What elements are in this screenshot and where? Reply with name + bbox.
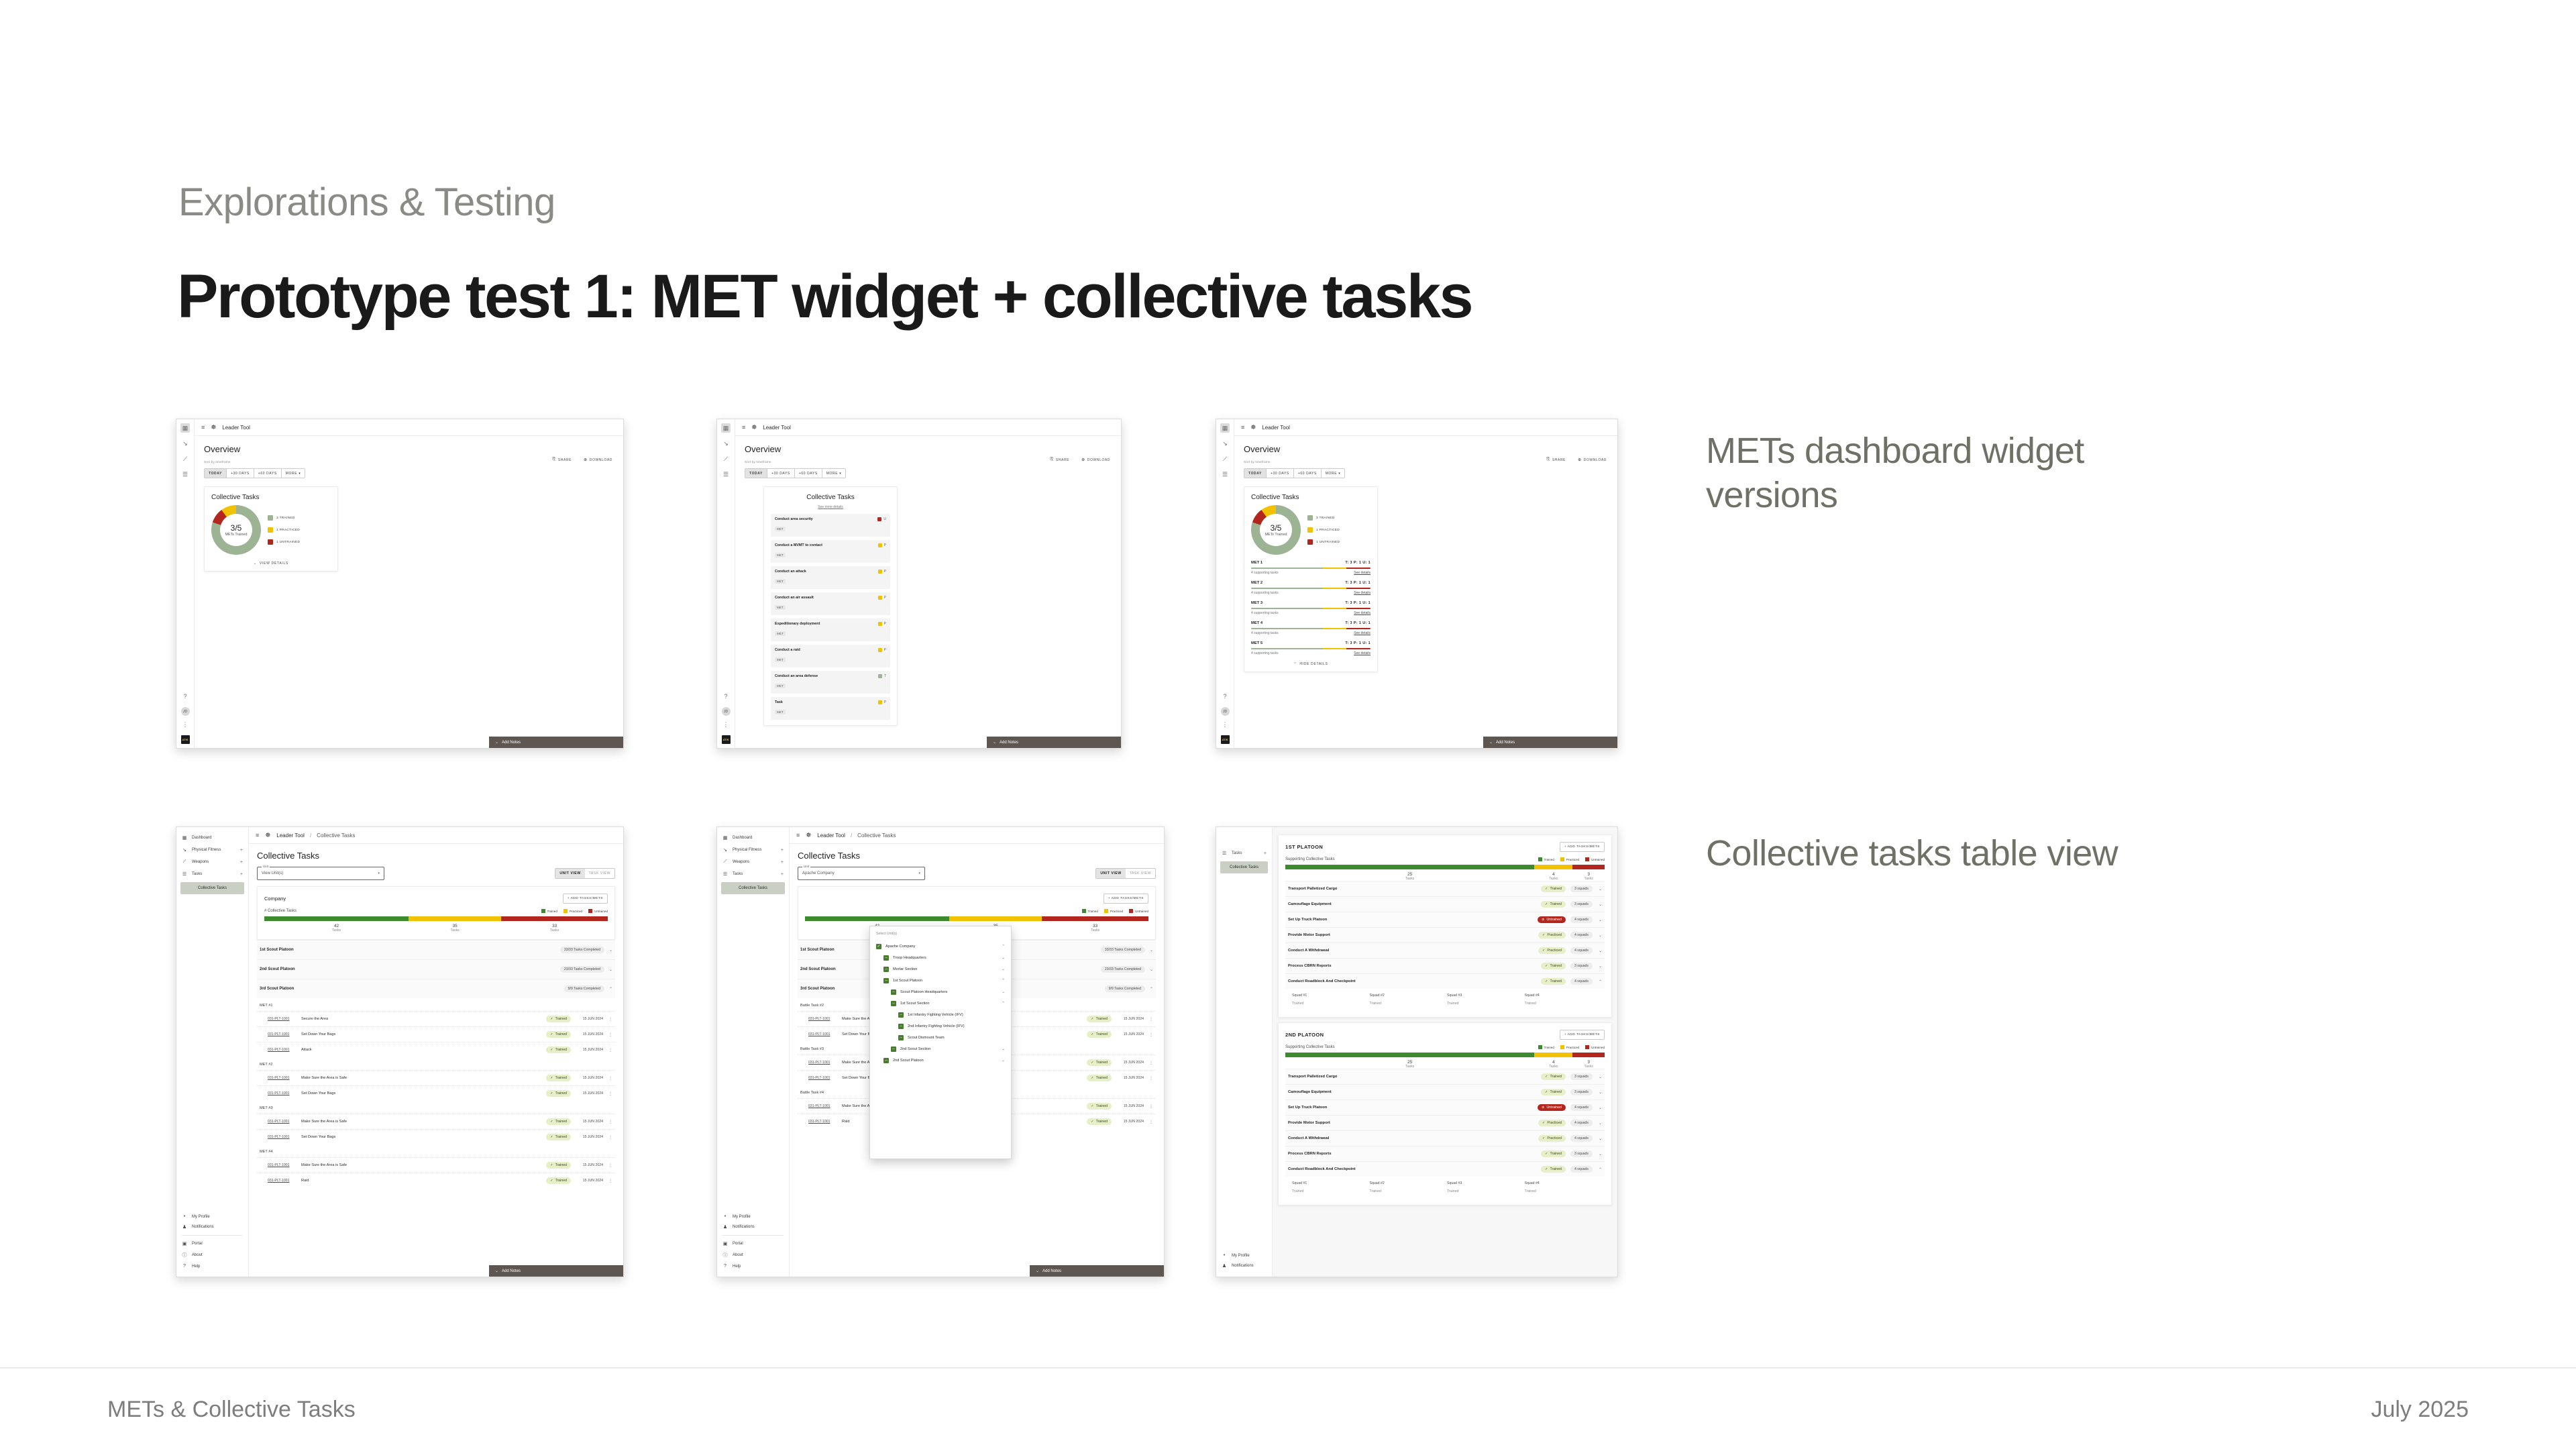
list-item[interactable]: TaskMETP (771, 697, 890, 720)
task-row[interactable]: Conduct A Withdrawal✓Practiced4 squads⌄ (1285, 1130, 1605, 1146)
share-button[interactable]: ⎘SHARE (552, 458, 572, 462)
checkbox-partial[interactable]: – (883, 1058, 889, 1063)
list-item-text: Conduct area securityMET (775, 517, 813, 533)
view-toggle[interactable]: UNIT VIEW TASK VIEW (555, 868, 615, 879)
table-row[interactable]: 031-PLT-1001Make Sure the Area is Safe✓T… (257, 1070, 615, 1085)
tab-unit-view[interactable]: UNIT VIEW (555, 869, 584, 878)
avatar[interactable]: JD (181, 707, 190, 716)
chevron-down-icon[interactable]: ⌄ (1002, 1059, 1005, 1063)
more-vertical-icon[interactable]: ⋮ (1144, 1017, 1153, 1022)
squad-count-badge: 4 squads (1570, 1120, 1593, 1126)
chevron-down-icon[interactable]: ⌄ (1593, 933, 1602, 938)
more-vertical-icon[interactable]: ⋮ (1144, 1032, 1153, 1037)
task-code[interactable]: 031-PLT-1001 (268, 1048, 301, 1052)
running-icon[interactable]: ↘ (721, 439, 731, 448)
chevron-down-icon[interactable]: ⌄ (1593, 918, 1602, 922)
unit-dropdown-menu[interactable]: Select Unit(s) ✓Apache Company⌃–Troop He… (869, 926, 1012, 1159)
add-tasks-mets-button[interactable]: + ADD TASKS/METS (1104, 894, 1148, 904)
squad-header: Squad #4 (1525, 994, 1603, 998)
platoon-name: 3rd Scout Platoon (800, 987, 835, 991)
task-row[interactable]: Transport Palletized Cargo✓Trained3 squa… (1285, 881, 1605, 896)
bar-segment (1572, 865, 1605, 869)
sidebar-item-collective-tasks[interactable]: Collective Tasks (721, 882, 785, 894)
question-icon[interactable]: ? (180, 692, 190, 701)
plus-icon[interactable]: + (240, 872, 243, 877)
task-row[interactable]: Transport Palletized Cargo✓Trained3 squa… (1285, 1069, 1605, 1084)
question-icon[interactable]: ? (1220, 692, 1230, 701)
sidebar-item-portal[interactable]: ▣Portal (717, 1238, 789, 1249)
more-vertical-icon[interactable]: ⋮ (1144, 1076, 1153, 1081)
question-icon[interactable]: ? (721, 692, 731, 701)
bar-segment-untrained (1346, 608, 1371, 610)
chevron-up-icon[interactable]: ⌃ (1002, 945, 1005, 949)
task-code[interactable]: 031-PLT-1001 (808, 1104, 842, 1108)
more-vertical-icon[interactable]: ⋮ (180, 720, 190, 729)
unit-dropdown-item[interactable]: –2nd Infantry Fighting Vehicle (IFV) (876, 1020, 1005, 1032)
task-code[interactable]: 031-PLT-1001 (808, 1061, 842, 1065)
task-code[interactable]: 031-PLT-1001 (808, 1076, 842, 1080)
sidebar-item-tasks[interactable]: ☰Tasks+ (717, 868, 789, 880)
sidebar-item-tasks[interactable]: ☰Tasks+ (1216, 847, 1272, 859)
sidebar-item-label: My Profile (192, 1215, 210, 1219)
sidebar-item-my-profile[interactable]: •My Profile (176, 1212, 248, 1222)
chevron-down-icon[interactable]: ⌄ (1593, 964, 1602, 969)
download-button[interactable]: ⊕DOWNLOAD (584, 458, 612, 462)
sidebar-item-label: Help (192, 1265, 200, 1269)
checkbox-partial[interactable]: – (891, 1001, 896, 1006)
checkbox-partial[interactable]: – (883, 955, 889, 961)
more-vertical-icon[interactable]: ⋮ (1144, 1104, 1153, 1109)
chevron-down-icon[interactable]: ⌄ (1002, 990, 1005, 994)
chevron-down-icon[interactable]: ⌄ (609, 967, 612, 972)
list-item[interactable]: Conduct an attackMETP (771, 566, 890, 589)
checkbox-partial[interactable]: – (883, 978, 889, 983)
sidebar-item-help[interactable]: ?Help (717, 1261, 789, 1271)
platoon-row[interactable]: 3rd Scout Platoon9/9 Tasks Completed⌃ (257, 979, 615, 998)
chevron-up-icon[interactable]: ⌃ (1002, 979, 1005, 983)
bar-segment (1534, 1053, 1572, 1057)
met-progress-row[interactable]: MET 2T: 3 P: 1 U: 14 supporting tasksSee… (1251, 581, 1371, 595)
add-notes-bar[interactable]: ⌄ Add Notes (987, 737, 1121, 748)
table-row[interactable]: 031-PLT-1001Set Down Your Bags✓Trained15… (257, 1026, 615, 1042)
platoon-row[interactable]: 1st Scout Platoon33/33 Tasks Completed⌄ (257, 940, 615, 959)
checkbox-partial[interactable]: – (891, 1046, 896, 1052)
task-code[interactable]: 031-PLT-1001 (268, 1163, 301, 1167)
more-vertical-icon[interactable]: ⋮ (603, 1135, 612, 1140)
running-icon[interactable]: ↘ (1220, 439, 1230, 448)
chevron-down-icon[interactable]: ⌄ (1593, 1075, 1602, 1079)
dashboard-icon[interactable]: ▦ (1220, 423, 1230, 433)
met-progress-footer: 4 supporting tasksSee details (1251, 571, 1371, 575)
unit-dropdown-item[interactable]: –Scout Dismount Team (876, 1032, 1005, 1043)
plus-icon[interactable]: + (240, 860, 243, 865)
checkbox-partial[interactable]: – (898, 1012, 904, 1018)
add-notes-label: Add Notes (502, 741, 521, 745)
table-row[interactable]: 031-PLT-1001Attack✓Trained15 JUN 2024⋮ (257, 1042, 615, 1057)
info-icon: ⓘ (182, 1252, 187, 1258)
met-progress-row[interactable]: MET 3T: 3 P: 1 U: 14 supporting tasksSee… (1251, 601, 1371, 615)
donut-chart: 3/5 METs Trained (211, 505, 261, 555)
sidebar-item-notifications[interactable]: ♟Notifications (176, 1222, 248, 1232)
task-code[interactable]: 031-PLT-1001 (808, 1120, 842, 1124)
slide: Explorations & Testing Prototype test 1:… (0, 0, 2576, 1449)
slide-title: Prototype test 1: MET widget + collectiv… (177, 262, 1472, 332)
list-item[interactable]: Conduct area securityMETU (771, 514, 890, 537)
list-icon[interactable]: ☰ (180, 470, 190, 479)
unit-select[interactable]: Unit Apache Company ▾ (798, 867, 925, 880)
task-code[interactable]: 031-PLT-1001 (808, 1032, 842, 1036)
legend-label: Practiced (1566, 858, 1579, 861)
more-vertical-icon[interactable]: ⋮ (603, 1048, 612, 1053)
task-row[interactable]: Set Up Truck Platoon⊘Untrained4 squads⌄ (1285, 1099, 1605, 1115)
legend-label: Trained (1544, 1046, 1554, 1049)
platoon-bar-values: 25Tasks4Tasks3Tasks (1285, 872, 1605, 881)
more-vertical-icon[interactable]: ⋮ (1220, 720, 1230, 729)
tab-more[interactable]: MORE ▾ (1322, 469, 1345, 478)
sidebar-item-dashboard[interactable]: ▦Dashboard (176, 832, 248, 844)
sidebar-item-dashboard[interactable]: ▦Dashboard (717, 832, 789, 844)
more-vertical-icon[interactable]: ⋮ (1144, 1061, 1153, 1065)
list-item[interactable]: Conduct an area defenseMETT (771, 671, 890, 694)
sidebar-item-notifications[interactable]: ♟Notifications (1216, 1260, 1272, 1271)
task-code[interactable]: 031-PLT-1001 (268, 1091, 301, 1095)
sidebar-item-label: My Profile (733, 1215, 751, 1219)
status-swatch (878, 543, 882, 547)
view-toggle[interactable]: UNIT VIEW TASK VIEW (1095, 868, 1156, 879)
unit-select[interactable]: Unit View Unit(s) ▾ (257, 867, 384, 880)
task-row[interactable]: Conduct Roadblock And Checkpoint✓Trained… (1285, 1161, 1605, 1177)
chevron-down-icon[interactable]: ⌄ (1593, 887, 1602, 892)
blocked-icon: ⊘ (1542, 1106, 1544, 1110)
atis-icon[interactable]: ATIS (722, 735, 731, 744)
met-counts: T: 3 P: 1 U: 1 (1345, 581, 1371, 585)
bar-segment-untrained (1346, 648, 1371, 650)
more-vertical-icon[interactable]: ⋮ (603, 1120, 612, 1124)
bar-value-group: 4Tasks (1534, 1060, 1572, 1069)
task-code[interactable]: 031-PLT-1001 (808, 1017, 842, 1021)
more-vertical-icon[interactable]: ⋮ (603, 1091, 612, 1096)
sidebar-divider (722, 1235, 784, 1236)
dashboard-icon[interactable]: ▦ (721, 423, 731, 433)
plus-icon[interactable]: + (240, 848, 243, 853)
timeframe-segmented-control[interactable]: TODAY +30 DAYS +60 DAYS MORE ▾ (1244, 468, 1345, 478)
unit-dropdown-item[interactable]: –Mortar Section⌄ (876, 963, 1005, 975)
download-button[interactable]: ⊕DOWNLOAD (1081, 458, 1110, 462)
met-progress-row[interactable]: MET 5T: 3 P: 1 U: 14 supporting tasksSee… (1251, 641, 1371, 655)
add-tasks-mets-button[interactable]: + ADD TASKS/METS (1560, 842, 1605, 852)
tab-60-days[interactable]: +60 DAYS (254, 469, 282, 478)
status-letter: P (884, 700, 886, 704)
breadcrumb: Collective Tasks (857, 833, 896, 839)
panel-header: 1ST PLATOON+ ADD TASKS/METS (1285, 842, 1605, 852)
list-icon[interactable]: ☰ (721, 470, 731, 479)
footer-left-label: METs & Collective Tasks (107, 1397, 356, 1423)
sidebar-item-physical-fitness[interactable]: ↘Physical Fitness+ (717, 844, 789, 856)
table-row[interactable]: 031-PLT-1001Raid✓Trained15 JUN 2024⋮ (257, 1173, 615, 1188)
task-name: Set Down Your Bags (301, 1091, 546, 1095)
sidebar-item-help[interactable]: ?Help (176, 1261, 248, 1271)
platoon-row[interactable]: 2nd Scout Platoon23/33 Tasks Completed⌄ (257, 959, 615, 979)
thumbnail-mets-donut[interactable]: ▦ ↘ ⟋ ☰ ? JD ⋮ ATIS ≡ ✵ Leader Tool O (176, 419, 624, 749)
task-code[interactable]: 031-PLT-1001 (268, 1179, 301, 1183)
download-button[interactable]: ⊕DOWNLOAD (1578, 458, 1607, 462)
sidebar-item-weapons[interactable]: ⟋Weapons+ (176, 856, 248, 868)
see-details-link[interactable]: See details (1354, 651, 1371, 655)
add-tasks-mets-button[interactable]: + ADD TASKS/METS (563, 894, 608, 904)
rifle-icon[interactable]: ⟋ (180, 454, 190, 464)
see-details-link[interactable]: See details (1354, 611, 1371, 615)
sidebar-item-my-profile[interactable]: •My Profile (717, 1212, 789, 1222)
rifle-icon[interactable]: ⟋ (1220, 454, 1230, 464)
task-row[interactable]: Conduct Roadblock And Checkpoint✓Trained… (1285, 973, 1605, 989)
view-details-button[interactable]: ⌄ VIEW DETAILS (211, 561, 331, 566)
met-progress-row[interactable]: MET 1T: 3 P: 1 U: 14 supporting tasksSee… (1251, 561, 1371, 575)
chevron-down-icon[interactable]: ⌄ (1593, 1121, 1602, 1126)
plus-icon[interactable]: + (781, 848, 784, 853)
table-row[interactable]: 031-PLT-1001Set Down Your Bags✓Trained15… (257, 1129, 615, 1144)
sidebar-divider (182, 1235, 243, 1236)
task-code[interactable]: 031-PLT-1001 (268, 1032, 301, 1036)
timeframe-segmented-control[interactable]: TODAY +30 DAYS +60 DAYS MORE ▾ (745, 468, 846, 478)
unit-dropdown-item[interactable]: –2nd Scout Platoon⌄ (876, 1055, 1005, 1066)
met-progress-row[interactable]: MET 4T: 3 P: 1 U: 14 supporting tasksSee… (1251, 621, 1371, 635)
task-row[interactable]: Provide Motor Support✓Practiced4 squads⌄ (1285, 927, 1605, 943)
dashboard-icon[interactable]: ▦ (180, 423, 190, 433)
sidebar-item-about[interactable]: ⓘAbout (176, 1249, 248, 1261)
hide-details-label: HIDE DETAILS (1299, 662, 1328, 666)
hamburger-icon[interactable]: ≡ (742, 424, 745, 431)
download-icon: ⊕ (584, 458, 588, 462)
task-row[interactable]: Camouflage Equipment✓Trained3 squads⌄ (1285, 896, 1605, 912)
list-item[interactable]: Expeditionary deploymentMETP (771, 619, 890, 641)
tab-30-days[interactable]: +30 DAYS (227, 469, 254, 478)
task-status: P (878, 700, 886, 704)
tab-today[interactable]: TODAY (205, 469, 227, 478)
sidebar-item-about[interactable]: ⓘAbout (717, 1249, 789, 1261)
group-heading: MET #2 (257, 1057, 615, 1070)
check-icon: ✓ (550, 1135, 553, 1139)
task-row[interactable]: Conduct A Withdrawal✓Practiced4 squads⌄ (1285, 943, 1605, 958)
tab-task-view[interactable]: TASK VIEW (1126, 869, 1155, 878)
hamburger-icon[interactable]: ≡ (256, 832, 259, 839)
plus-icon[interactable]: + (1264, 851, 1267, 856)
legend-label-untrained: Untrained (1135, 910, 1148, 913)
list-item[interactable]: Conduct an air assaultMETP (771, 592, 890, 615)
more-vertical-icon[interactable]: ⋮ (603, 1076, 612, 1081)
task-code[interactable]: 031-PLT-1001 (268, 1076, 301, 1080)
tab-60-days[interactable]: +60 DAYS (795, 469, 822, 478)
plus-icon[interactable]: + (781, 860, 784, 865)
see-details-link[interactable]: See details (1354, 631, 1371, 635)
see-details-link[interactable]: See details (1354, 571, 1371, 575)
status-badge: ✓Trained (1087, 1031, 1112, 1038)
status-label: Trained (555, 1048, 567, 1052)
chevron-down-icon[interactable]: ⌄ (1150, 967, 1153, 972)
sidebar-item-collective-tasks[interactable]: Collective Tasks (180, 882, 244, 894)
see-details-link[interactable]: See details (1354, 591, 1371, 595)
tab-more[interactable]: MORE ▾ (282, 469, 305, 478)
met-name: MET 2 (1251, 581, 1263, 585)
bar-unit: Tasks (501, 928, 608, 932)
task-row[interactable]: Process CBRN Reports✓Trained3 squads⌄ (1285, 958, 1605, 973)
hamburger-icon[interactable]: ≡ (796, 832, 800, 839)
breadcrumb: Collective Tasks (317, 833, 355, 839)
thumbnail-mets-list[interactable]: ▦ ↘ ⟋ ☰ ? JD ⋮ ATIS ≡ ✵ Leader Tool O (716, 419, 1122, 749)
chevron-down-icon[interactable]: ⌄ (1593, 949, 1602, 953)
table-row[interactable]: 031-PLT-1001Secure the Area✓Trained15 JU… (257, 1011, 615, 1026)
list-icon[interactable]: ☰ (1220, 470, 1230, 479)
squad-count-badge: 4 squads (1570, 947, 1593, 954)
sidebar-item-notifications[interactable]: ♟Notifications (717, 1222, 789, 1232)
sidebar-item-portal[interactable]: ▣Portal (176, 1238, 248, 1249)
status-badge: ✓Trained (546, 1090, 571, 1097)
bell-icon: ♟ (722, 1224, 728, 1230)
task-code[interactable]: 031-PLT-1001 (268, 1120, 301, 1124)
chevron-down-icon[interactable]: ⌄ (1593, 902, 1602, 907)
check-icon: ✓ (550, 1120, 553, 1124)
add-notes-bar[interactable]: ⌄ Add Notes (489, 737, 623, 748)
list-item[interactable]: Conduct a raidMETP (771, 645, 890, 667)
chevron-down-icon[interactable]: ⌄ (1002, 1047, 1005, 1051)
sidebar-item-my-profile[interactable]: •My Profile (1216, 1250, 1272, 1260)
hamburger-icon[interactable]: ≡ (1241, 424, 1244, 431)
checkbox-partial[interactable]: – (883, 967, 889, 972)
sidebar-item-collective-tasks[interactable]: Collective Tasks (1220, 861, 1268, 873)
task-date: 15 JUN 2024 (1112, 1104, 1144, 1108)
more-vertical-icon[interactable]: ⋮ (603, 1179, 612, 1183)
sidebar-item-weapons[interactable]: ⟋Weapons+ (717, 856, 789, 868)
task-code[interactable]: 031-PLT-1001 (268, 1135, 301, 1139)
chevron-down-icon[interactable]: ⌄ (1593, 1106, 1602, 1110)
task-row[interactable]: Set Up Truck Platoon⊘Untrained4 squads⌄ (1285, 912, 1605, 927)
unit-dropdown-item[interactable]: ✓Apache Company⌃ (876, 941, 1005, 952)
status-label: Trained (1096, 1017, 1108, 1021)
tab-today[interactable]: TODAY (1244, 469, 1267, 478)
chevron-down-icon[interactable]: ⌄ (1593, 1152, 1602, 1157)
legend-swatch-untrained (588, 909, 592, 913)
tab-30-days[interactable]: +30 DAYS (767, 469, 795, 478)
sidebar-item-tasks[interactable]: ☰Tasks+ (176, 868, 248, 880)
task-date: 15 JUN 2024 (571, 1032, 603, 1036)
chevron-up-icon[interactable]: ⌃ (1002, 1002, 1005, 1006)
platoon-name: 2nd Scout Platoon (260, 967, 295, 971)
atis-icon[interactable]: ATIS (181, 735, 190, 744)
tab-today[interactable]: TODAY (745, 469, 767, 478)
checkbox-partial[interactable]: – (898, 1035, 904, 1040)
breadcrumb-separator: / (310, 833, 311, 839)
avatar[interactable]: JD (1221, 707, 1230, 716)
topbar: ≡ ✵ Leader Tool (195, 419, 623, 436)
tab-more[interactable]: MORE ▾ (822, 469, 846, 478)
list-item[interactable]: Conduct a MVMT to contactMETP (771, 540, 890, 563)
rifle-icon[interactable]: ⟋ (721, 454, 731, 464)
checkbox-partial[interactable]: – (891, 989, 896, 995)
check-icon: ✓ (1091, 1017, 1093, 1021)
task-row[interactable]: Camouflage Equipment✓Trained3 squads⌄ (1285, 1084, 1605, 1099)
chevron-up-icon[interactable]: ⌃ (609, 987, 612, 991)
tab-60-days[interactable]: +60 DAYS (1294, 469, 1322, 478)
unit-dropdown-placeholder: Select Unit(s) (876, 932, 1005, 936)
task-row[interactable]: Provide Motor Support✓Practiced4 squads⌄ (1285, 1115, 1605, 1130)
unit-dropdown-item[interactable]: –2nd Scout Section⌄ (876, 1043, 1005, 1055)
hide-details-button[interactable]: ⌃ HIDE DETAILS (1251, 662, 1371, 666)
task-name: Process CBRN Reports (1288, 1152, 1541, 1156)
thumbnail-collective-tasks-table[interactable]: ▦Dashboard↘Physical Fitness+⟋Weapons+☰Ta… (176, 826, 624, 1277)
hamburger-icon[interactable]: ≡ (201, 424, 205, 431)
unit-dropdown-item[interactable]: –1st Infantry Fighting Vehicle (IFV) (876, 1009, 1005, 1020)
add-notes-bar[interactable]: ⌄ Add Notes (489, 1265, 623, 1277)
avatar[interactable]: JD (722, 707, 731, 716)
chevron-down-icon[interactable]: ⌄ (1002, 967, 1005, 971)
task-row[interactable]: Process CBRN Reports✓Trained3 squads⌄ (1285, 1146, 1605, 1161)
chevron-up-icon[interactable]: ⌃ (1150, 987, 1153, 991)
running-icon[interactable]: ↘ (180, 439, 190, 448)
table-row[interactable]: 031-PLT-1001Make Sure the Area is Safe✓T… (257, 1114, 615, 1129)
unit-dropdown-item[interactable]: –1st Scout Platoon⌃ (876, 975, 1005, 986)
share-button[interactable]: ⎘SHARE (1546, 458, 1566, 462)
chevron-down-icon[interactable]: ⌄ (1593, 1136, 1602, 1141)
task-date: 15 JUN 2024 (571, 1135, 603, 1139)
list-icon: ☰ (182, 871, 187, 877)
table-row[interactable]: 031-PLT-1001Set Down Your Bags✓Trained15… (257, 1085, 615, 1101)
squad-count-badge: 4 squads (1570, 1104, 1593, 1111)
sidebar-item-physical-fitness[interactable]: ↘Physical Fitness+ (176, 844, 248, 856)
chevron-down-icon[interactable]: ⌄ (1150, 948, 1153, 953)
bar-unit: Tasks (1042, 928, 1148, 932)
more-vertical-icon[interactable]: ⋮ (1144, 1120, 1153, 1124)
add-notes-bar[interactable]: ⌄ Add Notes (1030, 1265, 1164, 1277)
squad-header-row: Squad #1Squad #2Squad #3Squad #4 (1285, 989, 1605, 1000)
share-button[interactable]: ⎘SHARE (1050, 458, 1069, 462)
checkbox-checked[interactable]: ✓ (876, 944, 881, 949)
atis-icon[interactable]: ATIS (1221, 735, 1230, 744)
add-notes-bar[interactable]: ⌄ Add Notes (1483, 737, 1617, 748)
tab-task-view[interactable]: TASK VIEW (585, 869, 614, 878)
see-more-details-link[interactable]: See more details (771, 505, 890, 509)
add-tasks-mets-button[interactable]: + ADD TASKS/METS (1560, 1030, 1605, 1040)
tab-unit-view[interactable]: UNIT VIEW (1096, 869, 1125, 878)
chevron-down-icon[interactable]: ⌄ (1002, 956, 1005, 960)
chevron-down-icon[interactable]: ⌄ (609, 948, 612, 953)
chevron-up-icon[interactable]: ⌃ (1593, 1167, 1602, 1172)
unit-dropdown-item[interactable]: –Scout Platoon Headquarters⌄ (876, 986, 1005, 998)
share-icon: ⎘ (1050, 458, 1053, 462)
status-label: Trained (555, 1032, 567, 1036)
bar-value: 42 (264, 924, 409, 928)
legend-item: Practiced (1560, 1045, 1579, 1049)
chevron-down-icon[interactable]: ⌄ (1593, 1090, 1602, 1095)
more-vertical-icon[interactable]: ⋮ (603, 1163, 612, 1168)
thumbnail-collective-tasks-unit-dropdown[interactable]: ▦Dashboard↘Physical Fitness+⟋Weapons+☰Ta… (716, 826, 1165, 1277)
thumbnail-platoon-panels[interactable]: ☰Tasks+Collective Tasks•My Profile♟Notif… (1216, 826, 1618, 1277)
task-code[interactable]: 031-PLT-1001 (268, 1017, 301, 1021)
more-vertical-icon[interactable]: ⋮ (603, 1032, 612, 1037)
check-icon: ✓ (1091, 1104, 1093, 1108)
more-vertical-icon[interactable]: ⋮ (721, 720, 731, 729)
more-vertical-icon[interactable]: ⋮ (603, 1017, 612, 1022)
unit-dropdown-item[interactable]: –1st Scout Section⌃ (876, 998, 1005, 1009)
table-row[interactable]: 031-PLT-1001Make Sure the Area is Safe✓T… (257, 1157, 615, 1173)
chevron-up-icon[interactable]: ⌃ (1593, 979, 1602, 984)
checkbox-partial[interactable]: – (898, 1024, 904, 1029)
bar-segment (1042, 916, 1148, 921)
tab-30-days[interactable]: +30 DAYS (1267, 469, 1294, 478)
donut-center-value: 3/5 (231, 523, 242, 533)
thumbnail-mets-expanded[interactable]: ▦ ↘ ⟋ ☰ ? JD ⋮ ATIS ≡ ✵ Leader Tool O (1216, 419, 1618, 749)
timeframe-segmented-control[interactable]: TODAY +30 DAYS +60 DAYS MORE ▾ (204, 468, 305, 478)
plus-icon[interactable]: + (781, 872, 784, 877)
unit-dropdown-item[interactable]: –Troop Headquarters⌄ (876, 952, 1005, 963)
